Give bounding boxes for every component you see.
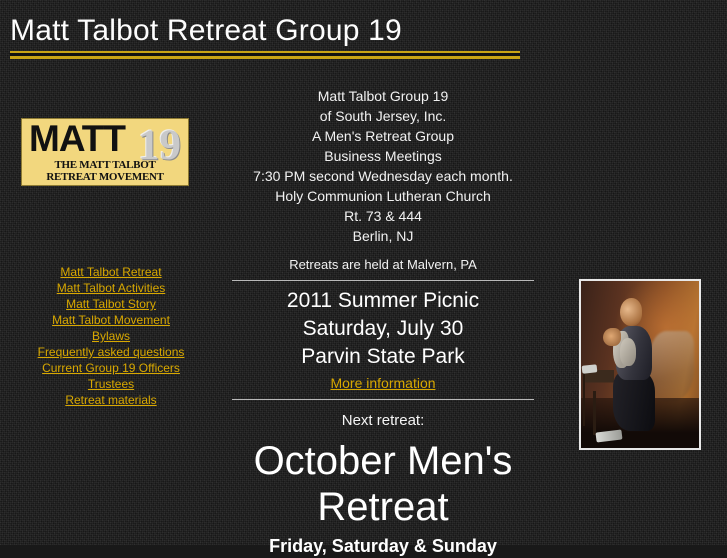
painting-paper-on-stool: [582, 364, 598, 374]
org-info-line-5: 7:30 PM second Wednesday each month.: [222, 166, 544, 186]
next-retreat-title: October Men's Retreat: [222, 438, 544, 530]
picnic-date: Saturday, July 30: [222, 315, 544, 343]
logo-wordmark: MATT: [29, 119, 125, 159]
org-info-line-2: of South Jersey, Inc.: [222, 106, 544, 126]
nav-link-matt-talbot-movement[interactable]: Matt Talbot Movement: [0, 312, 222, 328]
matt-talbot-logo: MATT 19 THE MATT TALBOT RETREAT MOVEMENT: [21, 118, 189, 186]
logo-subtitle-line-1: THE MATT TALBOT: [22, 159, 188, 171]
org-info-line-6: Holy Communion Lutheran Church: [222, 186, 544, 206]
divider-top: [232, 280, 534, 281]
picnic-location: Parvin State Park: [222, 343, 544, 371]
site-header: Matt Talbot Retreat Group 19: [10, 14, 520, 59]
divider-bottom: [232, 399, 534, 400]
nav-link-faq[interactable]: Frequently asked questions: [0, 344, 222, 360]
retreat-location-text: Retreats are held at Malvern, PA: [222, 256, 544, 274]
nav-link-matt-talbot-activities[interactable]: Matt Talbot Activities: [0, 280, 222, 296]
next-retreat-days: Friday, Saturday & Sunday: [222, 534, 544, 558]
org-info-line-1: Matt Talbot Group 19: [222, 86, 544, 106]
more-information-link[interactable]: More information: [330, 373, 435, 393]
painting-figure-sleeve: [620, 338, 637, 366]
prayer-painting: [579, 279, 701, 450]
nav-link-matt-talbot-retreat[interactable]: Matt Talbot Retreat: [0, 264, 222, 280]
org-info-line-8: Berlin, NJ: [222, 226, 544, 246]
painting-figure-head: [620, 298, 642, 326]
painting-stool: [583, 370, 613, 427]
nav-link-matt-talbot-story[interactable]: Matt Talbot Story: [0, 296, 222, 312]
painting-figure-legs: [613, 371, 655, 431]
painting-canvas: [581, 281, 699, 448]
org-info-line-4: Business Meetings: [222, 146, 544, 166]
picnic-title: 2011 Summer Picnic: [222, 287, 544, 315]
nav-link-trustees[interactable]: Trustees: [0, 376, 222, 392]
nav-link-current-officers[interactable]: Current Group 19 Officers: [0, 360, 222, 376]
page-title: Matt Talbot Retreat Group 19: [10, 14, 520, 48]
nav-link-retreat-materials[interactable]: Retreat materials: [0, 392, 222, 408]
logo-subtitle-line-2: RETREAT MOVEMENT: [22, 171, 188, 183]
painting-figure-hands: [603, 328, 621, 346]
sidebar-navigation: Matt Talbot Retreat Matt Talbot Activiti…: [0, 264, 222, 408]
painting-wall-patch: [649, 331, 694, 401]
left-column: MATT 19 THE MATT TALBOT RETREAT MOVEMENT…: [0, 118, 222, 408]
next-retreat-label: Next retreat:: [222, 410, 544, 432]
org-info-line-7: Rt. 73 & 444: [222, 206, 544, 226]
painting-stool-leg: [593, 391, 596, 434]
org-info-line-3: A Men's Retreat Group: [222, 126, 544, 146]
main-content: Matt Talbot Group 19 of South Jersey, In…: [222, 86, 544, 558]
page-root: Matt Talbot Retreat Group 19 MATT 19 THE…: [0, 0, 727, 545]
title-gold-rule: [10, 51, 520, 59]
nav-link-bylaws[interactable]: Bylaws: [0, 328, 222, 344]
